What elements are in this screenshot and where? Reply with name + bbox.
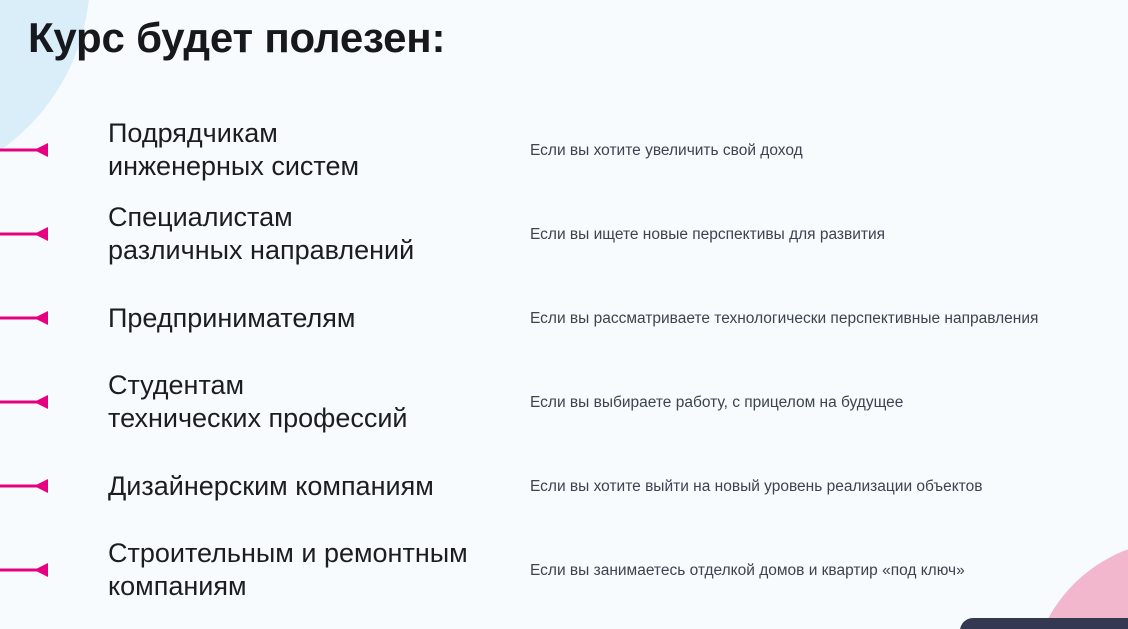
arrow-marker-cell: [0, 444, 108, 528]
reason-cell: Если вы ищете новые перспективы для разв…: [530, 224, 1128, 245]
reason-cell: Если вы хотите увеличить свой доход: [530, 140, 1128, 161]
slide-canvas: Курс будет полезен: Подрядчикам инженерн…: [0, 0, 1128, 629]
list-item: Строительным и ремонтным компаниям Если …: [0, 528, 1128, 612]
navy-bar-decoration: [960, 618, 1128, 629]
arrow-marker-cell: [0, 276, 108, 360]
arrow-right-icon: [0, 143, 48, 157]
audience-label: Предпринимателям: [108, 302, 520, 335]
arrow-marker-cell: [0, 192, 108, 276]
audience-cell: Дизайнерским компаниям: [108, 470, 530, 503]
page-title: Курс будет полезен:: [28, 12, 445, 64]
audience-cell: Строительным и ремонтным компаниям: [108, 537, 530, 603]
arrow-marker-cell: [0, 360, 108, 444]
audience-cell: Подрядчикам инженерных систем: [108, 117, 530, 183]
audience-list: Подрядчикам инженерных систем Если вы хо…: [0, 108, 1128, 612]
reason-cell: Если вы рассматриваете технологически пе…: [530, 308, 1128, 329]
reason-cell: Если вы выбираете работу, с прицелом на …: [530, 392, 1128, 413]
audience-label: Специалистам различных направлений: [108, 201, 520, 267]
reason-label: Если вы выбираете работу, с прицелом на …: [530, 392, 1124, 413]
arrow-right-icon: [0, 311, 48, 325]
arrow-right-icon: [0, 479, 48, 493]
audience-cell: Специалистам различных направлений: [108, 201, 530, 267]
reason-label: Если вы рассматриваете технологически пе…: [530, 308, 1124, 329]
reason-cell: Если вы занимаетесь отделкой домов и ква…: [530, 560, 1128, 581]
arrow-marker-cell: [0, 528, 108, 612]
reason-cell: Если вы хотите выйти на новый уровень ре…: [530, 476, 1128, 497]
audience-cell: Предпринимателям: [108, 302, 530, 335]
reason-label: Если вы занимаетесь отделкой домов и ква…: [530, 560, 1124, 581]
audience-label: Строительным и ремонтным компаниям: [108, 537, 520, 603]
arrow-right-icon: [0, 395, 48, 409]
list-item: Специалистам различных направлений Если …: [0, 192, 1128, 276]
list-item: Предпринимателям Если вы рассматриваете …: [0, 276, 1128, 360]
reason-label: Если вы хотите выйти на новый уровень ре…: [530, 476, 1124, 497]
list-item: Дизайнерским компаниям Если вы хотите вы…: [0, 444, 1128, 528]
list-item: Студентам технических профессий Если вы …: [0, 360, 1128, 444]
reason-label: Если вы ищете новые перспективы для разв…: [530, 224, 1124, 245]
list-item: Подрядчикам инженерных систем Если вы хо…: [0, 108, 1128, 192]
audience-label: Студентам технических профессий: [108, 369, 520, 435]
audience-cell: Студентам технических профессий: [108, 369, 530, 435]
arrow-right-icon: [0, 227, 48, 241]
arrow-marker-cell: [0, 108, 108, 192]
audience-label: Подрядчикам инженерных систем: [108, 117, 520, 183]
audience-label: Дизайнерским компаниям: [108, 470, 520, 503]
arrow-right-icon: [0, 563, 48, 577]
reason-label: Если вы хотите увеличить свой доход: [530, 140, 1124, 161]
